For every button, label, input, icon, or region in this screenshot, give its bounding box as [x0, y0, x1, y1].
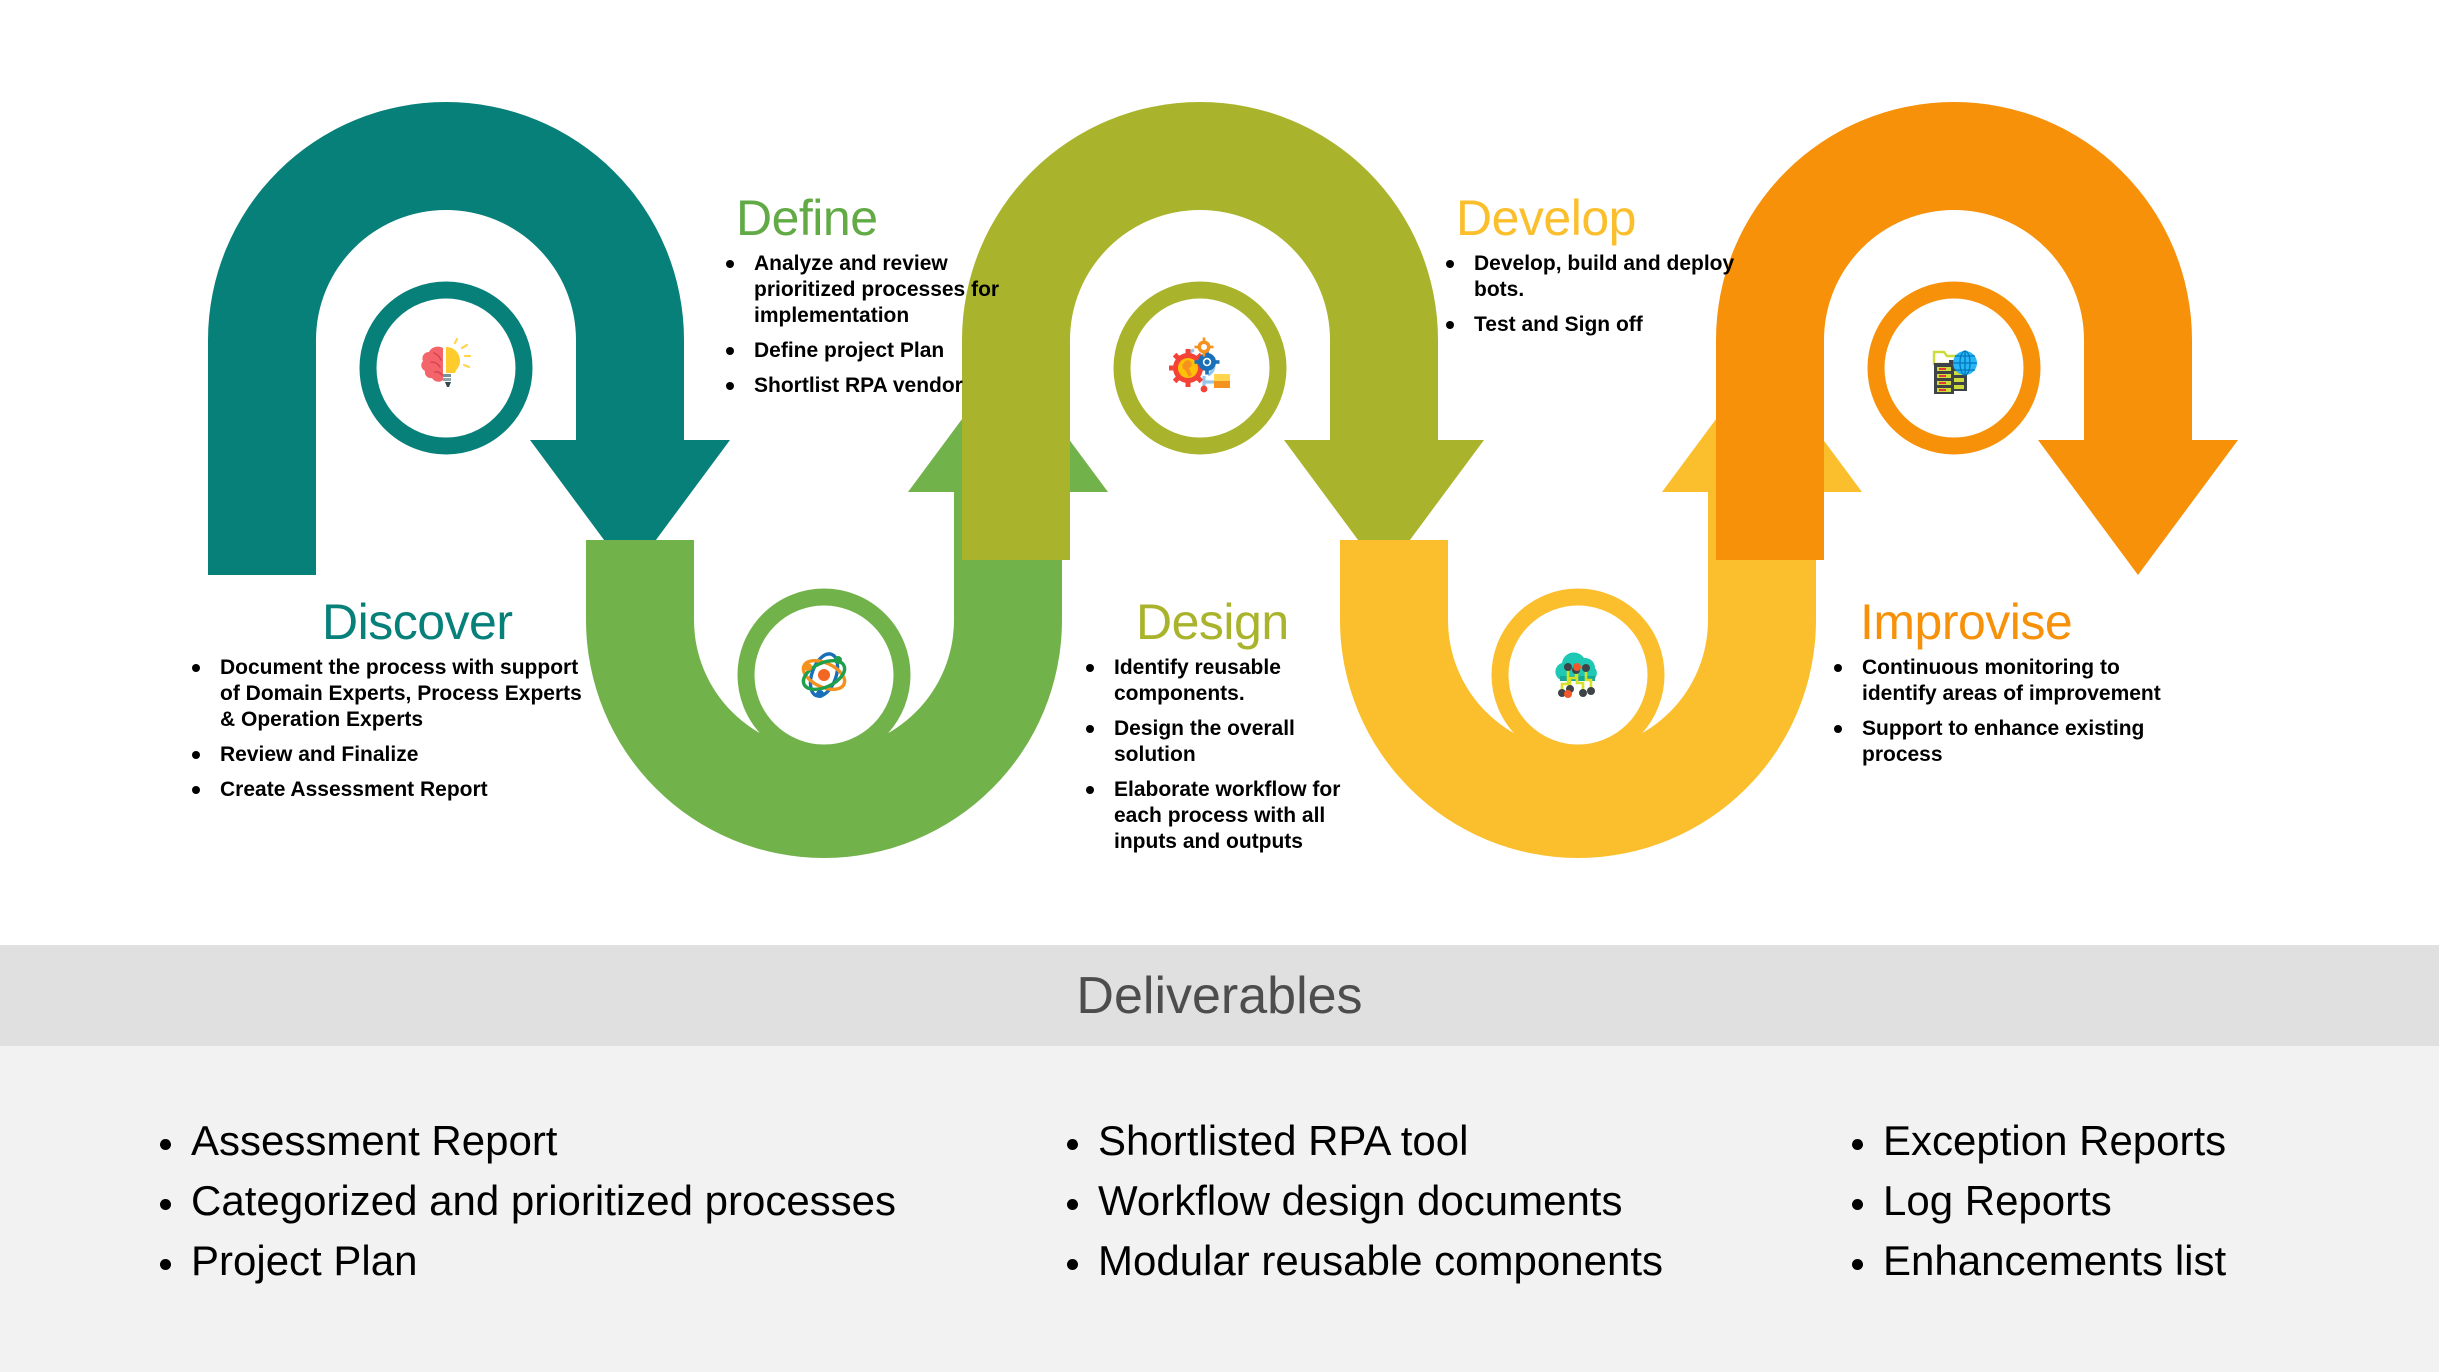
stage-block-design: Design Identify reusable components. Des…: [1078, 596, 1378, 864]
icon-slot-discover: [396, 318, 496, 418]
server-globe-icon: [1921, 335, 1987, 401]
bullet-item: Shortlist RPA vendor: [718, 373, 1048, 399]
process-flow-diagram: Define Analyze and review prioritized pr…: [0, 0, 2439, 945]
stage-block-develop: Develop Develop, build and deploy bots. …: [1438, 192, 1768, 347]
stage-bullets-develop: Develop, build and deploy bots. Test and…: [1438, 251, 1768, 338]
deliverables-list-3: Exception Reports Log Reports Enhancemen…: [1847, 1120, 2439, 1282]
stage-title-define: Define: [736, 192, 1048, 245]
deliverables-section: Deliverables Assessment Report Categoriz…: [0, 945, 2439, 1372]
stage-title-develop: Develop: [1456, 192, 1768, 245]
list-item: Workflow design documents: [1062, 1180, 1822, 1222]
icon-slot-develop: [1904, 318, 2004, 418]
bullet-item: Create Assessment Report: [172, 777, 592, 803]
bullet-item: Document the process with support of Dom…: [172, 655, 592, 733]
list-item: Enhancements list: [1847, 1240, 2439, 1282]
bullet-item: Analyze and review prioritized processes…: [718, 251, 1048, 329]
slide-canvas: Define Analyze and review prioritized pr…: [0, 0, 2439, 1372]
list-item: Categorized and prioritized processes: [155, 1180, 1022, 1222]
bullet-item: Test and Sign off: [1438, 312, 1768, 338]
bullet-item: Elaborate workflow for each process with…: [1078, 777, 1378, 855]
icon-slot-design: [1150, 318, 1250, 418]
deliverables-column-1: Assessment Report Categorized and priori…: [0, 1046, 1022, 1372]
list-item: Modular reusable components: [1062, 1240, 1822, 1282]
bullet-item: Continuous monitoring to identify areas …: [1820, 655, 2200, 707]
stage-bullets-define: Analyze and review prioritized processes…: [718, 251, 1048, 399]
bullet-item: Support to enhance existing process: [1820, 716, 2200, 768]
stage-bullets-design: Identify reusable components. Design the…: [1078, 655, 1378, 855]
stage-block-discover: Discover Document the process with suppo…: [172, 596, 592, 812]
deliverables-title: Deliverables: [1076, 966, 1362, 1026]
stage-bullets-discover: Document the process with support of Dom…: [172, 655, 592, 803]
cloud-nodes-icon: [1543, 640, 1613, 710]
deliverables-list-1: Assessment Report Categorized and priori…: [155, 1120, 1022, 1282]
list-item: Log Reports: [1847, 1180, 2439, 1222]
bullet-item: Develop, build and deploy bots.: [1438, 251, 1768, 303]
deliverables-column-2: Shortlisted RPA tool Workflow design doc…: [1022, 1046, 1822, 1372]
list-item: Assessment Report: [155, 1120, 1022, 1162]
brain-bulb-icon: [412, 334, 480, 402]
stage-title-discover: Discover: [322, 596, 592, 649]
gears-workflow-icon: [1164, 332, 1236, 404]
stage-block-improvise: Improvise Continuous monitoring to ident…: [1820, 596, 2200, 777]
deliverables-column-3: Exception Reports Log Reports Enhancemen…: [1822, 1046, 2439, 1372]
bullet-item: Review and Finalize: [172, 742, 592, 768]
list-item: Shortlisted RPA tool: [1062, 1120, 1822, 1162]
list-item: Exception Reports: [1847, 1120, 2439, 1162]
deliverables-columns: Assessment Report Categorized and priori…: [0, 1046, 2439, 1372]
bullet-item: Identify reusable components.: [1078, 655, 1378, 707]
deliverables-list-2: Shortlisted RPA tool Workflow design doc…: [1062, 1120, 1822, 1282]
stage-bullets-improvise: Continuous monitoring to identify areas …: [1820, 655, 2200, 768]
stage-title-design: Design: [1136, 596, 1378, 649]
deliverables-header-band: Deliverables: [0, 945, 2439, 1046]
bullet-item: Define project Plan: [718, 338, 1048, 364]
atom-icon: [791, 642, 857, 708]
stage-title-improvise: Improvise: [1860, 596, 2200, 649]
list-item: Project Plan: [155, 1240, 1022, 1282]
icon-slot-improvise: [1528, 625, 1628, 725]
stage-block-define: Define Analyze and review prioritized pr…: [718, 192, 1048, 408]
icon-slot-define: [774, 625, 874, 725]
bullet-item: Design the overall solution: [1078, 716, 1378, 768]
